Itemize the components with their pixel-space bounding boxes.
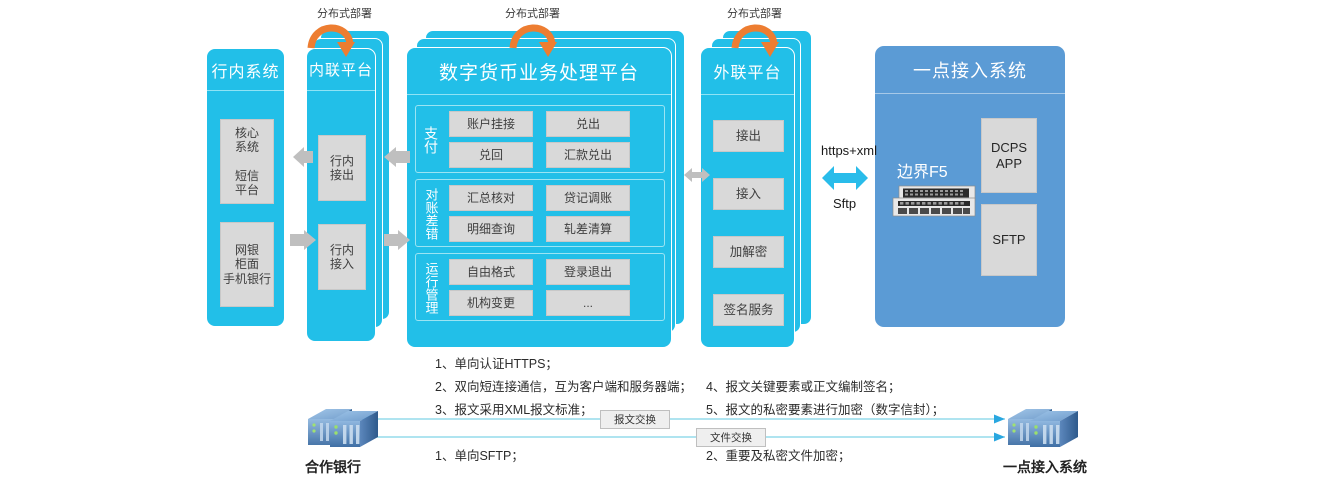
note-message-1: 1、单向认证HTTPS； — [435, 353, 558, 372]
note-file-2: 2、重要及私密文件加密； — [706, 445, 850, 464]
note-message-4: 4、报文关键要素或正文编制签名； — [706, 376, 900, 395]
arrow-intranet-outbound — [384, 230, 410, 250]
arrow-external-access-bidirectional — [822, 166, 868, 190]
badge-message-exchange: 报文交换 — [600, 410, 670, 429]
orange-loop-arrow-processing — [513, 28, 557, 57]
endpoint-label-partner-bank: 合作银行 — [305, 457, 361, 477]
flow-line-file-arrow-right — [994, 433, 1005, 442]
arrow-ebank-outbound — [290, 230, 316, 250]
orange-loop-arrow-intranet — [311, 28, 355, 57]
server-icon-one-point-access — [1008, 409, 1078, 447]
diagram-canvas: 分布式部署 分布式部署 分布式部署 行内系统 核心系统短信平台 网银柜面手机银行… — [0, 0, 1333, 483]
note-file-1: 1、单向SFTP； — [435, 445, 524, 464]
note-message-3: 3、报文采用XML报文标准； — [435, 399, 593, 418]
arrow-processing-external-bidirectional — [684, 168, 710, 182]
arrow-intranet-inbound — [384, 147, 410, 167]
flow-line-message-arrow-right — [994, 415, 1005, 424]
note-message-5: 5、报文的私密要素进行加密（数字信封）； — [706, 399, 944, 418]
arrow-core-system-inbound — [293, 147, 313, 167]
note-message-2: 2、双向短连接通信，互为客户端和服务器端； — [435, 376, 692, 395]
endpoint-label-one-point-access: 一点接入系统 — [1003, 457, 1087, 477]
orange-loop-arrow-external — [735, 28, 779, 57]
server-icon-partner-bank — [308, 409, 378, 447]
